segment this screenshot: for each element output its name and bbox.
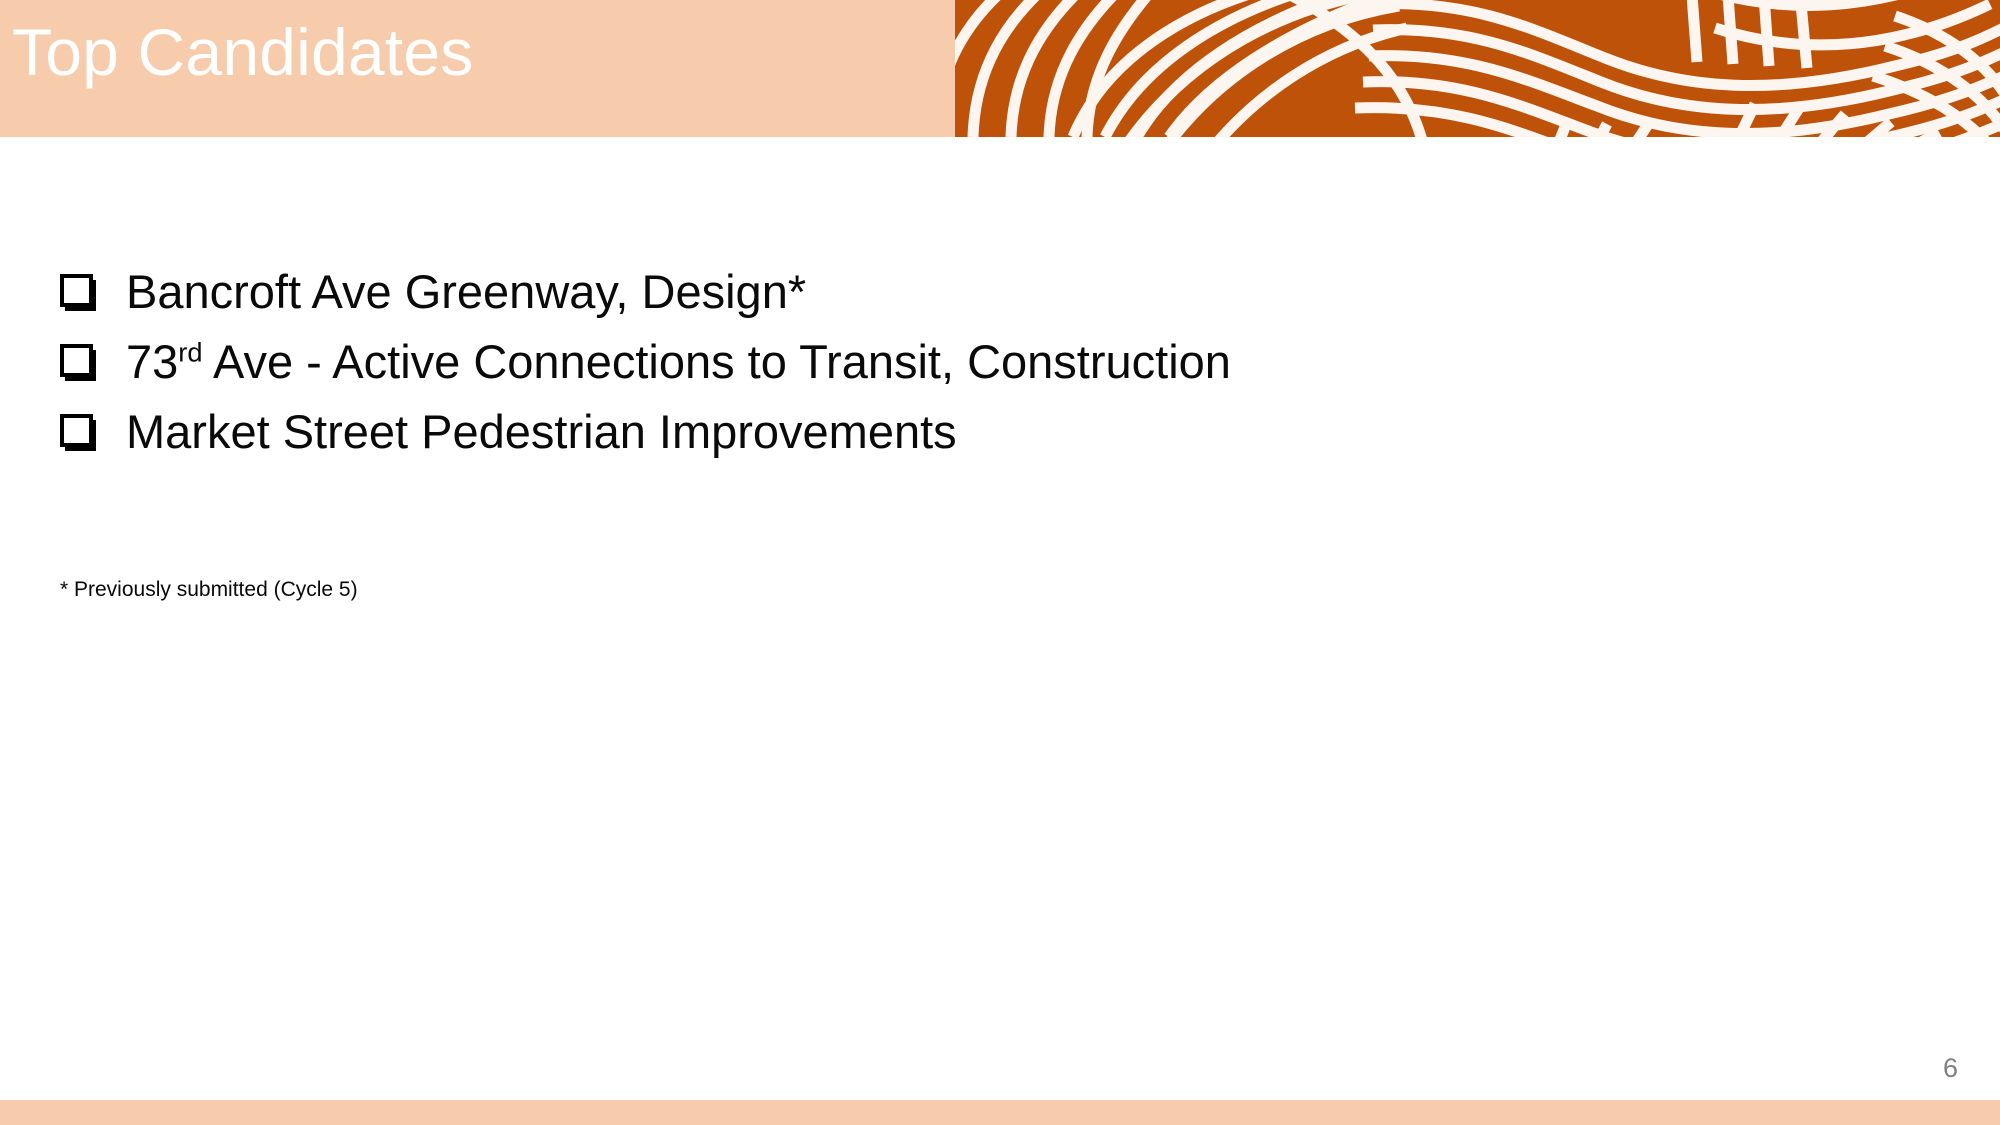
page-title: Top Candidates bbox=[12, 16, 473, 89]
list-item-text-main: 73 bbox=[126, 335, 178, 388]
list-item: Market Street Pedestrian Improvements bbox=[60, 402, 1860, 472]
list-item-ordinal-suffix: rd bbox=[178, 336, 202, 367]
page-number: 6 bbox=[1943, 1053, 1958, 1084]
list-item-text-main: Bancroft Ave Greenway, Design* bbox=[126, 265, 806, 318]
list-item-label: Market Street Pedestrian Improvements bbox=[126, 402, 957, 462]
bottom-accent-bar bbox=[0, 1100, 2000, 1125]
title-banner: Top Candidates bbox=[0, 0, 955, 137]
list-item-label: 73rd Ave - Active Connections to Transit… bbox=[126, 332, 1231, 392]
checkbox-square-icon[interactable] bbox=[60, 344, 96, 380]
slide-canvas: Top Candidates bbox=[0, 0, 2000, 1125]
list-item-text-main: Market Street Pedestrian Improvements bbox=[126, 405, 957, 458]
woven-curved-lines-icon bbox=[955, 0, 2000, 137]
list-item-text-rest: Ave - Active Connections to Transit, Con… bbox=[203, 335, 1231, 388]
candidate-list: Bancroft Ave Greenway, Design* 73rd Ave … bbox=[60, 262, 1860, 472]
list-item-label: Bancroft Ave Greenway, Design* bbox=[126, 262, 806, 322]
list-item: Bancroft Ave Greenway, Design* bbox=[60, 262, 1860, 332]
list-item: 73rd Ave - Active Connections to Transit… bbox=[60, 332, 1860, 402]
checkbox-square-icon[interactable] bbox=[60, 274, 96, 310]
checkbox-square-icon[interactable] bbox=[60, 414, 96, 450]
footnote: * Previously submitted (Cycle 5) bbox=[60, 578, 358, 602]
decorative-artwork-banner bbox=[955, 0, 2000, 137]
